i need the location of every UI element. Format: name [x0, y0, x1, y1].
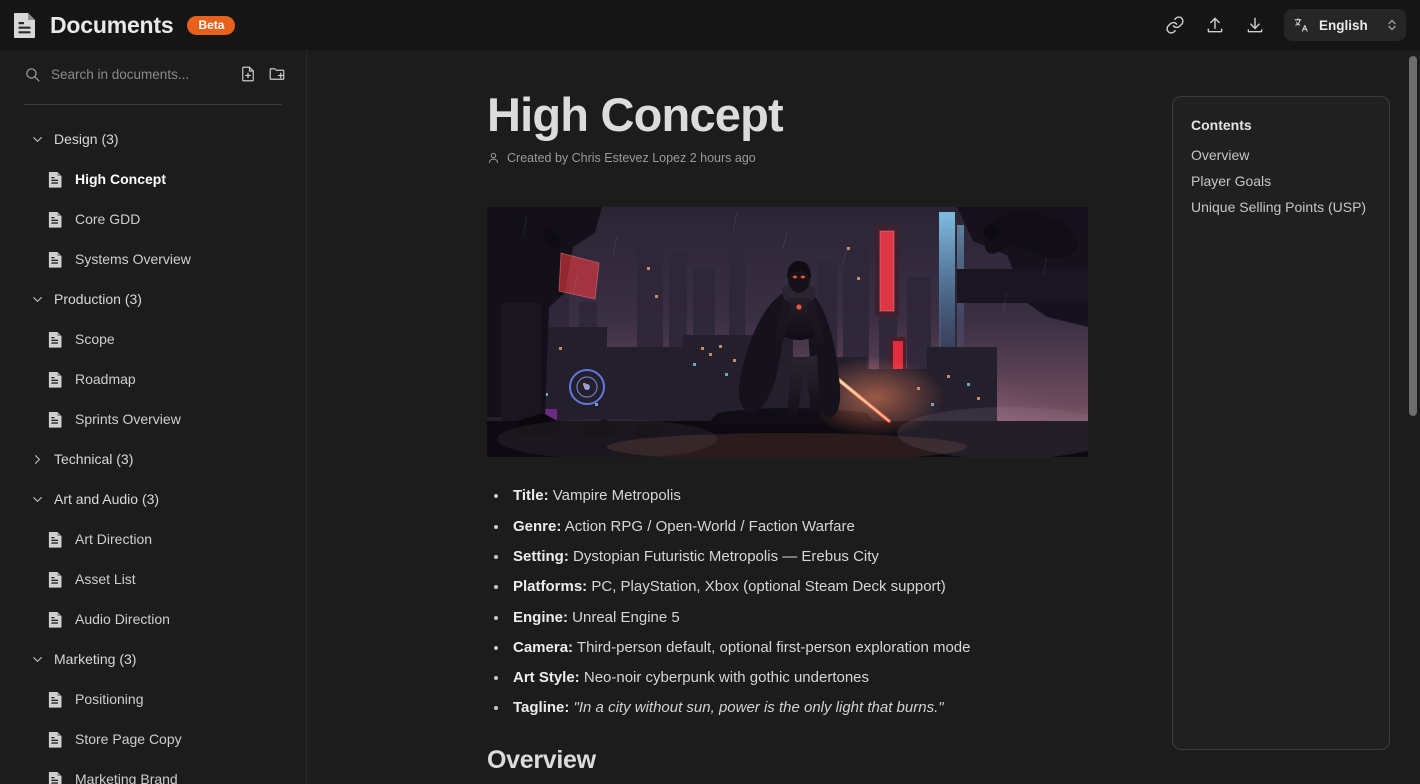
- sidebar-item-scope[interactable]: Scope: [0, 319, 306, 359]
- document-icon: [48, 371, 63, 388]
- sidebar-item-art-direction[interactable]: Art Direction: [0, 519, 306, 559]
- sidebar-item-asset-list[interactable]: Asset List: [0, 559, 306, 599]
- sidebar-item-roadmap[interactable]: Roadmap: [0, 359, 306, 399]
- sidebar-item-store-page-copy[interactable]: Store Page Copy: [0, 719, 306, 759]
- sidebar-item-label: Audio Direction: [75, 611, 170, 627]
- hero-image: [487, 207, 1088, 457]
- language-value: English: [1319, 18, 1368, 33]
- new-file-icon: [239, 65, 257, 83]
- sidebar-group-technical-3[interactable]: Technical (3): [0, 439, 306, 479]
- high-concept-bullets: Title: Vampire MetropolisGenre: Action R…: [487, 481, 1107, 723]
- bullet-value: Action RPG / Open-World / Faction Warfar…: [561, 518, 854, 535]
- sidebar-item-label: High Concept: [75, 171, 166, 187]
- sidebar-group-label: Technical (3): [54, 451, 133, 467]
- sidebar: Design (3) High Concept Core GDD Systems…: [0, 50, 307, 784]
- language-selector[interactable]: English: [1284, 9, 1406, 41]
- document-icon: [48, 251, 63, 268]
- document-icon: [48, 611, 63, 628]
- sidebar-group-label: Marketing (3): [54, 651, 136, 667]
- bullet-value: PC, PlayStation, Xbox (optional Steam De…: [587, 578, 946, 595]
- toc-item-unique-selling-points-usp[interactable]: Unique Selling Points (USP): [1191, 199, 1389, 215]
- beta-badge: Beta: [187, 16, 235, 35]
- chevron-down-icon: [31, 653, 44, 666]
- document-icon: [48, 571, 63, 588]
- bullet-item: Camera: Third-person default, optional f…: [509, 633, 1107, 663]
- translate-icon: [1293, 17, 1310, 34]
- sidebar-item-positioning[interactable]: Positioning: [0, 679, 306, 719]
- document-content: High Concept Created by Chris Estevez Lo…: [308, 50, 1420, 784]
- bullet-value: Unreal Engine 5: [568, 609, 680, 626]
- bullet-value: "In a city without sun, power is the onl…: [569, 699, 943, 716]
- search-input[interactable]: [51, 67, 228, 82]
- toc-title: Contents: [1191, 117, 1389, 133]
- chevron-right-icon: [31, 453, 44, 466]
- chevron-updown-icon: [1386, 18, 1398, 32]
- bullet-key: Platforms:: [513, 578, 587, 595]
- user-icon: [487, 151, 500, 165]
- bullet-item: Platforms: PC, PlayStation, Xbox (option…: [509, 572, 1107, 602]
- document-meta-text: Created by Chris Estevez Lopez 2 hours a…: [507, 151, 756, 165]
- sidebar-group-art-and-audio-3[interactable]: Art and Audio (3): [0, 479, 306, 519]
- copy-link-button[interactable]: [1158, 8, 1192, 42]
- chevron-down-icon: [30, 653, 44, 666]
- document-icon: [48, 531, 63, 548]
- content-scrollbar-thumb[interactable]: [1409, 56, 1417, 416]
- chevron-down-icon: [30, 133, 44, 146]
- bullet-key: Camera:: [513, 639, 573, 656]
- sidebar-item-audio-direction[interactable]: Audio Direction: [0, 599, 306, 639]
- sidebar-group-label: Design (3): [54, 131, 119, 147]
- sidebar-item-label: Scope: [75, 331, 115, 347]
- document-tree: Design (3) High Concept Core GDD Systems…: [0, 105, 306, 784]
- bullet-key: Setting:: [513, 548, 569, 565]
- document-icon: [48, 171, 63, 188]
- toc-list: OverviewPlayer GoalsUnique Selling Point…: [1191, 147, 1389, 215]
- document-icon: [48, 411, 63, 428]
- app-title: Documents: [50, 12, 173, 39]
- document-icon: [48, 771, 63, 784]
- table-of-contents: Contents OverviewPlayer GoalsUnique Sell…: [1172, 96, 1390, 750]
- sidebar-item-label: Asset List: [75, 571, 136, 587]
- document-icon: [48, 691, 63, 708]
- bullet-item: Genre: Action RPG / Open-World / Faction…: [509, 512, 1107, 542]
- app-header: Documents Beta English: [0, 0, 1420, 50]
- sidebar-item-core-gdd[interactable]: Core GDD: [0, 199, 306, 239]
- chevron-down-icon: [30, 293, 44, 306]
- sidebar-item-label: Marketing Brand: [75, 771, 178, 784]
- section-heading-overview: Overview: [487, 746, 1420, 775]
- bullet-key: Art Style:: [513, 669, 580, 686]
- sidebar-item-label: Core GDD: [75, 211, 140, 227]
- document-icon: [48, 731, 63, 748]
- sidebar-item-sprints-overview[interactable]: Sprints Overview: [0, 399, 306, 439]
- bullet-item: Title: Vampire Metropolis: [509, 481, 1107, 511]
- sidebar-group-design-3[interactable]: Design (3): [0, 119, 306, 159]
- header-actions: English: [1158, 8, 1406, 42]
- bullet-value: Neo-noir cyberpunk with gothic undertone…: [580, 669, 869, 686]
- bullet-key: Tagline:: [513, 699, 569, 716]
- upload-button[interactable]: [1198, 8, 1232, 42]
- sidebar-item-label: Art Direction: [75, 531, 152, 547]
- chevron-down-icon: [31, 133, 44, 146]
- search-icon: [24, 66, 41, 83]
- document-icon: [12, 11, 38, 39]
- bullet-key: Title:: [513, 487, 549, 504]
- sidebar-item-label: Systems Overview: [75, 251, 191, 267]
- brand: Documents Beta: [12, 11, 235, 39]
- sidebar-item-marketing-brand[interactable]: Marketing Brand: [0, 759, 306, 784]
- bullet-item: Setting: Dystopian Futuristic Metropolis…: [509, 542, 1107, 572]
- sidebar-item-label: Store Page Copy: [75, 731, 182, 747]
- copy-link-icon: [1165, 15, 1185, 35]
- bullet-item: Tagline: "In a city without sun, power i…: [509, 693, 1107, 723]
- new-folder-icon: [268, 65, 286, 83]
- download-button[interactable]: [1238, 8, 1272, 42]
- chevron-right-icon: [30, 453, 44, 466]
- bullet-key: Engine:: [513, 609, 568, 626]
- bullet-item: Engine: Unreal Engine 5: [509, 603, 1107, 633]
- bullet-key: Genre:: [513, 518, 561, 535]
- bullet-item: Art Style: Neo-noir cyberpunk with gothi…: [509, 663, 1107, 693]
- chevron-down-icon: [30, 493, 44, 506]
- sidebar-group-marketing-3[interactable]: Marketing (3): [0, 639, 306, 679]
- bullet-value: Vampire Metropolis: [549, 487, 681, 504]
- sidebar-group-production-3[interactable]: Production (3): [0, 279, 306, 319]
- toc-item-player-goals[interactable]: Player Goals: [1191, 173, 1389, 189]
- bullet-value: Third-person default, optional first-per…: [573, 639, 970, 656]
- hero-illustration: [487, 207, 1088, 457]
- document-icon: [48, 331, 63, 348]
- bullet-value: Dystopian Futuristic Metropolis — Erebus…: [569, 548, 879, 565]
- sidebar-item-label: Sprints Overview: [75, 411, 181, 427]
- sidebar-item-high-concept[interactable]: High Concept: [0, 159, 306, 199]
- toc-item-overview[interactable]: Overview: [1191, 147, 1389, 163]
- sidebar-group-label: Production (3): [54, 291, 142, 307]
- chevron-down-icon: [31, 293, 44, 306]
- sidebar-item-label: Positioning: [75, 691, 144, 707]
- sidebar-item-systems-overview[interactable]: Systems Overview: [0, 239, 306, 279]
- new-file-button[interactable]: [238, 62, 257, 86]
- chevron-down-icon: [31, 493, 44, 506]
- document-icon: [48, 211, 63, 228]
- search-row: [0, 50, 306, 98]
- download-icon: [1245, 15, 1265, 35]
- content-scrollbar-track[interactable]: [1406, 50, 1420, 784]
- sidebar-item-label: Roadmap: [75, 371, 136, 387]
- upload-icon: [1205, 15, 1225, 35]
- sidebar-group-label: Art and Audio (3): [54, 491, 159, 507]
- new-folder-button[interactable]: [267, 62, 286, 86]
